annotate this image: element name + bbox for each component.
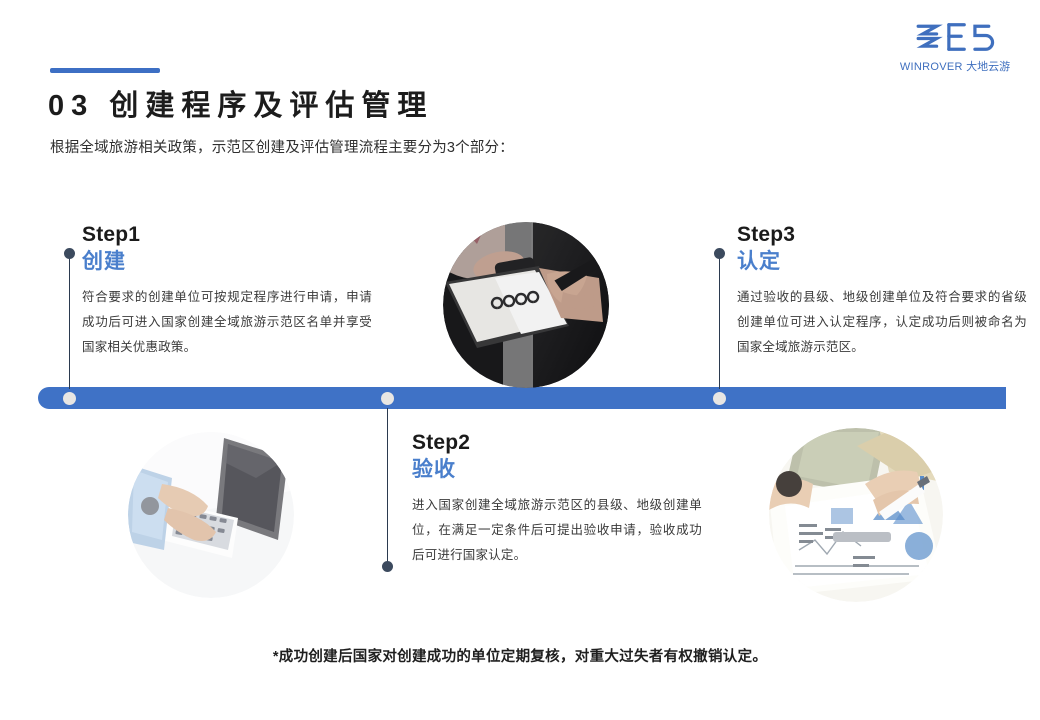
step2-number: Step2 — [412, 430, 702, 455]
timeline-node-step1 — [63, 392, 76, 405]
step2-description: 进入国家创建全域旅游示范区的县级、地级创建单位，在满足一定条件后可提出验收申请，… — [412, 493, 702, 568]
logo-text: WINROVER 大地云游 — [892, 58, 1018, 74]
photo-person-writing-in-notebook — [443, 222, 609, 388]
photo-notebook-graphic — [443, 222, 609, 388]
step3-description: 通过验收的县级、地级创建单位及符合要求的省级创建单位可进入认定程序，认定成功后则… — [737, 285, 1027, 360]
title-underline-rule — [50, 68, 160, 73]
photo-reviewing-business-charts — [769, 428, 943, 602]
logo-brand-cn: 大地云游 — [966, 61, 1010, 73]
footnote-text: *成功创建后国家对创建成功的单位定期复核，对重大过失者有权撤销认定。 — [0, 645, 1040, 666]
step1-number: Step1 — [82, 222, 372, 247]
step3-number: Step3 — [737, 222, 1027, 247]
page-title: 03 创建程序及评估管理 — [48, 82, 433, 124]
connector-dot-step1 — [64, 248, 75, 259]
step3-name: 认定 — [737, 248, 1027, 276]
connector-dot-step2 — [382, 561, 393, 572]
page-subtitle: 根据全域旅游相关政策，示范区创建及评估管理流程主要分为3个部分： — [50, 136, 514, 157]
timeline-node-step3 — [713, 392, 726, 405]
logo-brand-en: WINROVER — [900, 61, 963, 73]
connector-step1 — [69, 256, 70, 389]
timeline-bar — [38, 387, 1006, 409]
connector-step3 — [719, 256, 720, 389]
step1-description: 符合要求的创建单位可按规定程序进行申请，申请成功后可进入国家创建全域旅游示范区名… — [82, 285, 372, 360]
photo-charts-graphic — [769, 428, 943, 602]
winrover-logo-mark-icon — [909, 18, 1001, 56]
step-block-1: Step1 创建 符合要求的创建单位可按规定程序进行申请，申请成功后可进入国家创… — [82, 222, 372, 360]
photo-hands-typing-on-laptop — [128, 432, 294, 598]
step2-name: 验收 — [412, 456, 702, 484]
slide-root: WINROVER 大地云游 03 创建程序及评估管理 根据全域旅游相关政策，示范… — [0, 0, 1040, 720]
timeline-node-step2 — [381, 392, 394, 405]
step1-name: 创建 — [82, 248, 372, 276]
brand-logo: WINROVER 大地云游 — [892, 18, 1018, 74]
photo-laptop-graphic — [128, 432, 294, 598]
step-block-3: Step3 认定 通过验收的县级、地级创建单位及符合要求的省级创建单位可进入认定… — [737, 222, 1027, 360]
step-block-2: Step2 验收 进入国家创建全域旅游示范区的县级、地级创建单位，在满足一定条件… — [412, 430, 702, 568]
connector-dot-step3 — [714, 248, 725, 259]
connector-step2 — [387, 408, 388, 566]
